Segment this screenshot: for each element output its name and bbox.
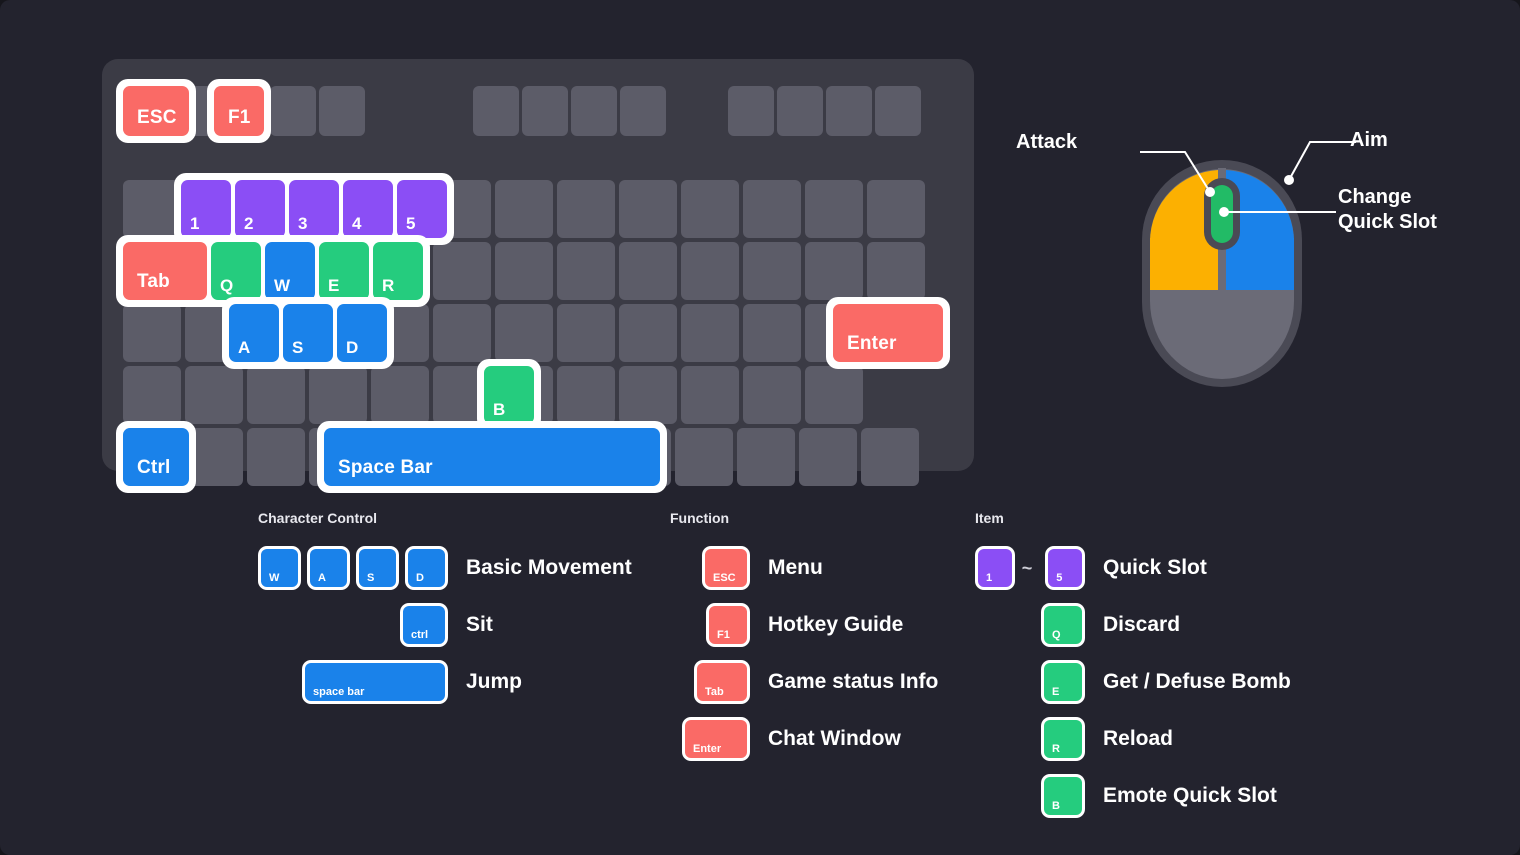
legend-key-face: E xyxy=(1044,663,1082,701)
group-enter-key: Enter xyxy=(826,297,950,369)
key-f1[interactable]: F1 xyxy=(214,86,264,136)
legend-row: EGet / Defuse Bomb xyxy=(975,660,1305,704)
mouse-right-button-body[interactable] xyxy=(1226,238,1294,290)
legend-key-face: Q xyxy=(1044,606,1082,644)
keycap-letter[interactable] xyxy=(867,242,925,300)
legend-description: Get / Defuse Bomb xyxy=(1103,670,1291,694)
key-label: ESC xyxy=(137,107,177,129)
key-ctrl[interactable]: Ctrl xyxy=(123,428,189,486)
keycap-bottom[interactable] xyxy=(675,428,733,486)
keycap-number[interactable] xyxy=(557,180,615,238)
group-f1: F1 xyxy=(207,79,271,143)
keycap-letter[interactable] xyxy=(185,366,243,424)
mouse-label-aim: Aim xyxy=(1350,128,1388,153)
keycap-letter[interactable] xyxy=(495,242,553,300)
keycap-letter[interactable] xyxy=(495,304,553,362)
keycap-letter[interactable] xyxy=(619,304,677,362)
legend-key-a[interactable]: A xyxy=(307,546,350,590)
key-b[interactable]: B xyxy=(484,366,534,424)
keycap-letter[interactable] xyxy=(681,304,739,362)
legend-key-label: Enter xyxy=(693,743,721,755)
legend-key-1[interactable]: 1 xyxy=(975,546,1015,590)
legend-key-label: ctrl xyxy=(411,629,428,641)
legend-key-group: Enter xyxy=(670,717,750,761)
keycap-fn[interactable] xyxy=(522,86,568,136)
keycap-fn[interactable] xyxy=(319,86,365,136)
aim-leader-line xyxy=(1289,142,1356,180)
legend-key-group: 1~5 xyxy=(975,546,1085,590)
legend-key-label: D xyxy=(416,572,424,584)
legend-key-face: B xyxy=(1044,777,1082,815)
legend-key-group: ctrl xyxy=(258,603,448,647)
legend-row: ctrlSit xyxy=(258,603,638,647)
key-tab[interactable]: Tab xyxy=(123,242,207,300)
legend-row: TabGame status Info xyxy=(670,660,960,704)
keycap-letter[interactable] xyxy=(123,304,181,362)
legend-key-group: B xyxy=(975,774,1085,818)
keyboard-diagram: ESCF112345TabQWERASDBCtrlSpace BarEnter xyxy=(102,59,974,471)
change-quick-slot-anchor-dot xyxy=(1219,207,1229,217)
legend-key-f1[interactable]: F1 xyxy=(706,603,750,647)
legend-key-group: space bar xyxy=(258,660,448,704)
legend-key-w[interactable]: W xyxy=(258,546,301,590)
key-label: B xyxy=(493,400,505,420)
legend-key-s[interactable]: S xyxy=(356,546,399,590)
key-label: Ctrl xyxy=(137,457,171,479)
key-1[interactable]: 1 xyxy=(181,180,231,238)
legend-key-label: F1 xyxy=(717,629,730,641)
legend-key-e[interactable]: E xyxy=(1041,660,1085,704)
legend-title-function: Function xyxy=(670,510,960,526)
legend-character-control: Character Control WASDBasic Movementctrl… xyxy=(258,510,638,717)
legend-key-space-bar[interactable]: space bar xyxy=(302,660,448,704)
legend-key-5[interactable]: 5 xyxy=(1045,546,1085,590)
keycap-number[interactable] xyxy=(681,180,739,238)
keycap-number[interactable] xyxy=(123,180,181,238)
legend-key-face: A xyxy=(310,549,347,587)
key-s[interactable]: S xyxy=(283,304,333,362)
legend-key-label: S xyxy=(367,572,374,584)
legend-rows-item: 1~5Quick SlotQDiscardEGet / Defuse BombR… xyxy=(975,546,1305,818)
keycap-letter[interactable] xyxy=(805,242,863,300)
key-label: R xyxy=(382,276,394,296)
legend-key-face: Enter xyxy=(685,720,747,758)
key-d[interactable]: D xyxy=(337,304,387,362)
keycap-fn[interactable] xyxy=(875,86,921,136)
keycap-letter[interactable] xyxy=(619,366,677,424)
keycap-fn[interactable] xyxy=(571,86,617,136)
legend-row: RReload xyxy=(975,717,1305,761)
keycap-letter[interactable] xyxy=(681,366,739,424)
legend-key-face: F1 xyxy=(709,606,747,644)
legend-key-r[interactable]: R xyxy=(1041,717,1085,761)
key-w[interactable]: W xyxy=(265,242,315,300)
key-label: 3 xyxy=(298,214,308,234)
key-2[interactable]: 2 xyxy=(235,180,285,238)
group-asd-keys: ASD xyxy=(222,297,394,369)
legend-key-label: 5 xyxy=(1056,572,1062,584)
legend-row: BEmote Quick Slot xyxy=(975,774,1305,818)
key-4[interactable]: 4 xyxy=(343,180,393,238)
legend-row: WASDBasic Movement xyxy=(258,546,638,590)
legend-key-group: WASD xyxy=(258,546,448,590)
key-label: S xyxy=(292,338,304,358)
key-label: 1 xyxy=(190,214,200,234)
legend-key-group: Q xyxy=(975,603,1085,647)
key-label: 5 xyxy=(406,214,416,234)
legend-row: EnterChat Window xyxy=(670,717,960,761)
legend-key-face: space bar xyxy=(305,663,445,701)
keycap-letter[interactable] xyxy=(247,366,305,424)
keycap-bottom[interactable] xyxy=(799,428,857,486)
keycap-number[interactable] xyxy=(867,180,925,238)
legend-key-group: ESC xyxy=(670,546,750,590)
mouse-label-attack: Attack xyxy=(1016,130,1077,155)
keycap-fn[interactable] xyxy=(270,86,316,136)
legend-key-face: D xyxy=(408,549,445,587)
legend-description: Sit xyxy=(466,613,493,637)
key-label: 2 xyxy=(244,214,254,234)
key-label: A xyxy=(238,338,250,358)
group-space-key: Space Bar xyxy=(317,421,667,493)
keycap-letter[interactable] xyxy=(309,366,367,424)
legend-key-esc[interactable]: ESC xyxy=(702,546,750,590)
key-esc[interactable]: ESC xyxy=(123,86,189,136)
legend-row: space barJump xyxy=(258,660,638,704)
legend-key-label: Tab xyxy=(705,686,724,698)
mouse-left-button-body[interactable] xyxy=(1150,238,1218,290)
key-label: D xyxy=(346,338,358,358)
mouse-diagram: Attack Aim Change Quick Slot xyxy=(1000,110,1470,390)
legend-key-q[interactable]: Q xyxy=(1041,603,1085,647)
legend-row: F1Hotkey Guide xyxy=(670,603,960,647)
legend-key-face: 5 xyxy=(1048,549,1082,587)
legend-key-label: space bar xyxy=(313,686,364,698)
legend-key-group: F1 xyxy=(670,603,750,647)
keycap-letter[interactable] xyxy=(371,366,429,424)
keycap-number[interactable] xyxy=(619,180,677,238)
legend-key-face: ctrl xyxy=(403,606,445,644)
legend-key-label: A xyxy=(318,572,326,584)
mouse-label-change-quick-slot: Change Quick Slot xyxy=(1338,185,1437,235)
legend-key-label: E xyxy=(1052,686,1059,698)
legend-key-label: B xyxy=(1052,800,1060,812)
legend-description: Menu xyxy=(768,556,823,580)
legend-description: Discard xyxy=(1103,613,1180,637)
legend-key-group: E xyxy=(975,660,1085,704)
key-a[interactable]: A xyxy=(229,304,279,362)
keycap-fn[interactable] xyxy=(728,86,774,136)
legend-key-group: R xyxy=(975,717,1085,761)
key-label: F1 xyxy=(228,107,251,129)
group-ctrl-key: Ctrl xyxy=(116,421,196,493)
keycap-letter[interactable] xyxy=(681,242,739,300)
key-r[interactable]: R xyxy=(373,242,423,300)
legend-item: Item 1~5Quick SlotQDiscardEGet / Defuse … xyxy=(975,510,1305,831)
keycap-letter[interactable] xyxy=(123,366,181,424)
keycap-number[interactable] xyxy=(495,180,553,238)
legend-key-ctrl[interactable]: ctrl xyxy=(400,603,448,647)
legend-range-separator: ~ xyxy=(1022,559,1033,577)
keycap-bottom[interactable] xyxy=(861,428,919,486)
legend-key-b[interactable]: B xyxy=(1041,774,1085,818)
keycap-letter[interactable] xyxy=(433,242,491,300)
attack-anchor-dot xyxy=(1205,187,1215,197)
keycap-fn[interactable] xyxy=(620,86,666,136)
key-label: Tab xyxy=(137,271,170,293)
legend-row: QDiscard xyxy=(975,603,1305,647)
key-q[interactable]: Q xyxy=(211,242,261,300)
key-e[interactable]: E xyxy=(319,242,369,300)
key-label: Space Bar xyxy=(338,457,433,479)
legend-function: Function ESCMenuF1Hotkey GuideTabGame st… xyxy=(670,510,960,774)
key-label: Enter xyxy=(847,333,897,355)
legend-title-character-control: Character Control xyxy=(258,510,638,526)
legend-row: 1~5Quick Slot xyxy=(975,546,1305,590)
legend-key-face: R xyxy=(1044,720,1082,758)
legend-description: Basic Movement xyxy=(466,556,632,580)
aim-anchor-dot xyxy=(1284,175,1294,185)
keycap-letter[interactable] xyxy=(743,304,801,362)
legend-key-label: 1 xyxy=(986,572,992,584)
legend-key-label: W xyxy=(269,572,279,584)
keycap-bottom[interactable] xyxy=(737,428,795,486)
keycap-number[interactable] xyxy=(805,180,863,238)
legend-key-face: W xyxy=(261,549,298,587)
legend-description: Game status Info xyxy=(768,670,938,694)
key-enter[interactable]: Enter xyxy=(833,304,943,362)
keycap-letter[interactable] xyxy=(805,366,863,424)
key-label: 4 xyxy=(352,214,362,234)
keycap-fn[interactable] xyxy=(473,86,519,136)
legend-key-tab[interactable]: Tab xyxy=(694,660,750,704)
legend-description: Jump xyxy=(466,670,522,694)
legend-description: Chat Window xyxy=(768,727,901,751)
keycap-letter[interactable] xyxy=(743,242,801,300)
legend-key-label: R xyxy=(1052,743,1060,755)
legend-key-face: Tab xyxy=(697,663,747,701)
key-label: W xyxy=(274,276,290,296)
legend-rows-character-control: WASDBasic MovementctrlSitspace barJump xyxy=(258,546,638,704)
keycap-letter[interactable] xyxy=(557,366,615,424)
key-3[interactable]: 3 xyxy=(289,180,339,238)
legend-key-face: ESC xyxy=(705,549,747,587)
keycap-letter[interactable] xyxy=(743,366,801,424)
key-5[interactable]: 5 xyxy=(397,180,447,238)
legend-key-label: ESC xyxy=(713,572,736,584)
keycap-fn[interactable] xyxy=(826,86,872,136)
legend-key-face: 1 xyxy=(978,549,1012,587)
keycap-letter[interactable] xyxy=(557,304,615,362)
keycap-letter[interactable] xyxy=(619,242,677,300)
legend-rows-function: ESCMenuF1Hotkey GuideTabGame status Info… xyxy=(670,546,960,761)
legend-key-group: Tab xyxy=(670,660,750,704)
legend-description: Quick Slot xyxy=(1103,556,1207,580)
legend-row: ESCMenu xyxy=(670,546,960,590)
keycap-fn[interactable] xyxy=(777,86,823,136)
keycap-letter[interactable] xyxy=(557,242,615,300)
keycap-number[interactable] xyxy=(743,180,801,238)
legend-key-enter[interactable]: Enter xyxy=(682,717,750,761)
legend-description: Emote Quick Slot xyxy=(1103,784,1277,808)
legend-title-item: Item xyxy=(975,510,1305,526)
key-label: Q xyxy=(220,276,233,296)
key-label: E xyxy=(328,276,340,296)
keycap-bottom[interactable] xyxy=(247,428,305,486)
hotkey-guide-page: ESCF112345TabQWERASDBCtrlSpace BarEnter xyxy=(0,0,1520,855)
legend-description: Reload xyxy=(1103,727,1173,751)
key-space-bar[interactable]: Space Bar xyxy=(324,428,660,486)
legend-key-label: Q xyxy=(1052,629,1061,641)
legend-key-d[interactable]: D xyxy=(405,546,448,590)
legend-key-face: S xyxy=(359,549,396,587)
legend-description: Hotkey Guide xyxy=(768,613,903,637)
group-esc: ESC xyxy=(116,79,196,143)
keycap-letter[interactable] xyxy=(433,304,491,362)
